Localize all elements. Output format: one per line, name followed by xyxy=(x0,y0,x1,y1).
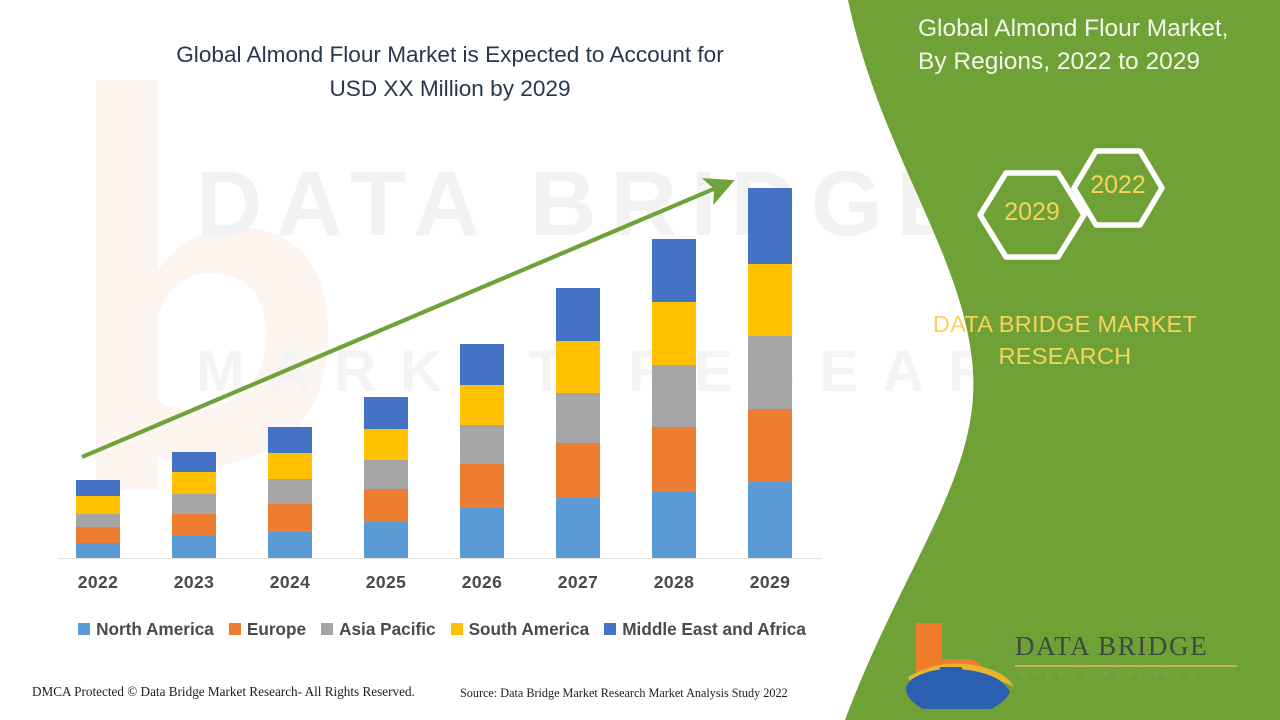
bar-segment xyxy=(76,496,120,514)
slide-canvas: DATA BRIDGE MARKET RESEARCH Global Almon… xyxy=(0,0,1280,720)
x-label-2022: 2022 xyxy=(66,572,130,593)
bar-2022 xyxy=(76,480,120,558)
chart-title: Global Almond Flour Market is Expected t… xyxy=(70,38,830,106)
bar-segment xyxy=(460,385,504,425)
hexagon-badges: 2029 2022 xyxy=(968,130,1188,295)
bar-segment xyxy=(748,336,792,409)
bar-segment xyxy=(556,443,600,499)
bar-segment xyxy=(268,479,312,504)
bar-segment xyxy=(460,425,504,465)
bar-segment xyxy=(748,188,792,264)
bar-segment xyxy=(460,508,504,558)
brand-name-line2: RESEARCH xyxy=(880,340,1250,372)
bar-2023 xyxy=(172,452,216,558)
x-label-2023: 2023 xyxy=(162,572,226,593)
legend-item[interactable]: South America xyxy=(451,619,590,640)
legend-swatch-icon xyxy=(78,623,90,635)
bar-segment xyxy=(556,288,600,341)
x-axis-labels: 20222023202420252026202720282029 xyxy=(58,572,830,600)
bar-segment xyxy=(172,514,216,536)
bar-segment xyxy=(172,494,216,514)
brand-name: DATA BRIDGE MARKET RESEARCH xyxy=(880,308,1280,372)
legend-item[interactable]: Middle East and Africa xyxy=(604,619,806,640)
bar-segment xyxy=(748,409,792,483)
legend-swatch-icon xyxy=(229,623,241,635)
logo-divider xyxy=(1015,665,1237,667)
x-label-2024: 2024 xyxy=(258,572,322,593)
logo-tagline: MARKET RESEARCH xyxy=(1018,668,1201,680)
bar-2029 xyxy=(748,188,792,558)
bar-segment xyxy=(652,427,696,493)
legend-label: South America xyxy=(469,619,590,640)
data-bridge-logo: DATA BRIDGE MARKET RESEARCH xyxy=(885,615,1275,710)
bar-segment xyxy=(76,527,120,543)
hexagon-2029-label: 2029 xyxy=(980,198,1084,227)
legend-item[interactable]: North America xyxy=(78,619,214,640)
legend-swatch-icon xyxy=(604,623,616,635)
bar-segment xyxy=(268,453,312,480)
green-panel-title: Global Almond Flour Market, By Regions, … xyxy=(890,12,1280,78)
legend-label: Europe xyxy=(247,619,306,640)
bar-segment xyxy=(76,514,120,527)
green-panel-title-line1: Global Almond Flour Market, xyxy=(918,12,1280,45)
bar-segment xyxy=(460,464,504,508)
x-label-2027: 2027 xyxy=(546,572,610,593)
x-label-2026: 2026 xyxy=(450,572,514,593)
bar-2027 xyxy=(556,288,600,558)
footer: DMCA Protected © Data Bridge Market Rese… xyxy=(0,684,850,708)
bar-segment xyxy=(556,498,600,558)
chart-title-line1: Global Almond Flour Market is Expected t… xyxy=(70,38,830,72)
bar-segment xyxy=(364,460,408,490)
bar-segment xyxy=(172,472,216,494)
x-label-2025: 2025 xyxy=(354,572,418,593)
chart-legend: North AmericaEuropeAsia PacificSouth Ame… xyxy=(52,617,832,641)
bar-segment xyxy=(268,532,312,558)
legend-label: Asia Pacific xyxy=(339,619,436,640)
bar-segment xyxy=(556,393,600,443)
bar-segment xyxy=(172,452,216,473)
green-panel-content: Global Almond Flour Market, By Regions, … xyxy=(880,0,1280,720)
bar-2028 xyxy=(652,239,696,558)
stacked-bar-chart xyxy=(58,160,830,558)
green-panel-title-line2: By Regions, 2022 to 2029 xyxy=(918,45,1280,78)
legend-swatch-icon xyxy=(451,623,463,635)
x-label-2028: 2028 xyxy=(642,572,706,593)
hexagon-2022-label: 2022 xyxy=(1074,171,1162,200)
bar-segment xyxy=(460,344,504,385)
bar-segment xyxy=(364,397,408,429)
legend-item[interactable]: Europe xyxy=(229,619,306,640)
bar-2024 xyxy=(268,427,312,558)
legend-swatch-icon xyxy=(321,623,333,635)
x-axis-line xyxy=(58,558,822,559)
legend-item[interactable]: Asia Pacific xyxy=(321,619,436,640)
bar-segment xyxy=(76,543,120,558)
logo-wordmark: DATA BRIDGE xyxy=(1015,631,1208,662)
legend-label: Middle East and Africa xyxy=(622,619,806,640)
data-bridge-b-mark-icon xyxy=(900,617,1025,709)
x-label-2029: 2029 xyxy=(738,572,802,593)
bar-2026 xyxy=(460,344,504,558)
bar-segment xyxy=(364,429,408,460)
bar-segment xyxy=(652,302,696,365)
bar-segment xyxy=(268,504,312,532)
bar-2025 xyxy=(364,397,408,558)
bar-segment xyxy=(268,427,312,453)
bar-segment xyxy=(172,536,216,558)
bar-segment xyxy=(748,264,792,337)
bar-segment xyxy=(364,489,408,522)
bar-segment xyxy=(652,492,696,558)
footer-copyright: DMCA Protected © Data Bridge Market Rese… xyxy=(32,684,415,700)
bar-segment xyxy=(556,341,600,393)
bar-segment xyxy=(364,522,408,558)
bar-segment xyxy=(652,239,696,303)
bar-segment xyxy=(748,482,792,558)
legend-label: North America xyxy=(96,619,214,640)
bar-segment xyxy=(652,365,696,427)
brand-name-line1: DATA BRIDGE MARKET xyxy=(880,308,1250,340)
footer-source: Source: Data Bridge Market Research Mark… xyxy=(460,686,788,701)
chart-title-line2: USD XX Million by 2029 xyxy=(70,72,830,106)
bar-segment xyxy=(76,480,120,496)
